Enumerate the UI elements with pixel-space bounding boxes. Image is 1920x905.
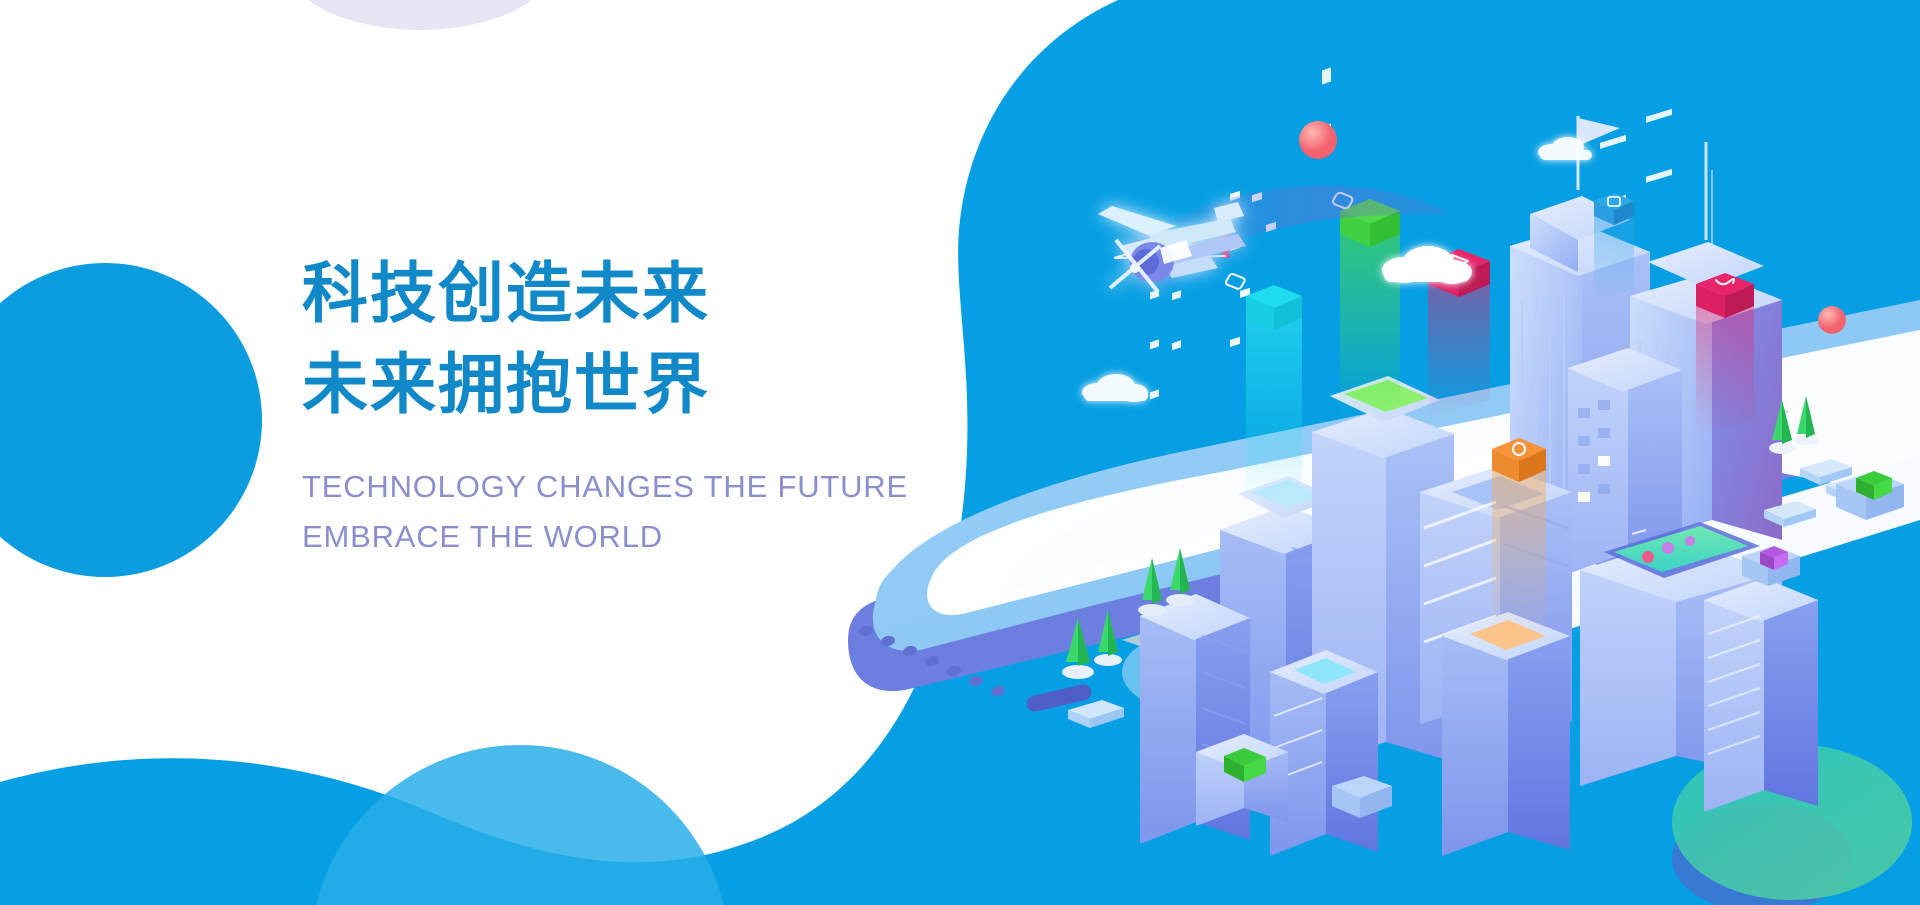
marker-orange-camera (1492, 438, 1546, 644)
marker-pink-call (1696, 273, 1754, 438)
headline-line-2: 未来拥抱世界 (302, 339, 862, 430)
marker-green-chat (1332, 192, 1400, 422)
subtitle-line-2: EMBRACE THE WORLD (302, 514, 862, 560)
banner-stage: 科技创造未来 未来拥抱世界 TECHNOLOGY CHANGES THE FUT… (0, 0, 1920, 905)
headline-line-1: 科技创造未来 (302, 248, 862, 339)
building-ribbed-right (1704, 578, 1818, 812)
balloon-pink-small (1818, 306, 1846, 334)
headline-group: 科技创造未来 未来拥抱世界 TECHNOLOGY CHANGES THE FUT… (302, 248, 862, 560)
balloon-pink-large (1299, 121, 1337, 159)
subtitle-line-1: TECHNOLOGY CHANGES THE FUTURE (302, 464, 862, 510)
marker-blue-news (1594, 193, 1634, 302)
banner-illustration (0, 0, 1920, 905)
